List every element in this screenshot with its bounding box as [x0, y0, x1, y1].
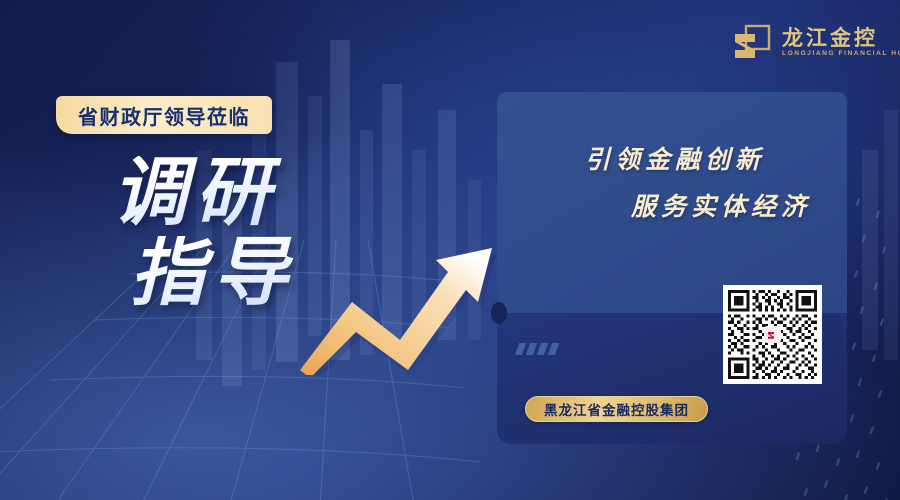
slogan-panel: 引领金融创新 服务实体经济 黑龙江省金融控股集团 — [497, 92, 847, 444]
slogan-line-2: 服务实体经济 — [523, 189, 821, 228]
longjiang-financial-holding-mark-icon — [733, 24, 771, 62]
slash-mark — [537, 343, 548, 355]
growth-arrow-icon — [296, 190, 496, 375]
slash-mark — [548, 343, 559, 355]
slash-mark — [515, 343, 526, 355]
organization-name: 黑龙江省金融控股集团 — [544, 399, 689, 419]
slogan-block: 引领金融创新 服务实体经济 — [497, 142, 847, 228]
slogan-panel-top: 引领金融创新 服务实体经济 — [497, 92, 847, 313]
visit-badge: 省财政厅领导莅临 — [56, 96, 272, 134]
logo-english-name: LONGJIANG FINANCIAL HOLDING — [782, 51, 900, 58]
poster-canvas: 龙江金控 LONGJIANG FINANCIAL HOLDING 省财政厅领导莅… — [0, 0, 900, 500]
logo-chinese-name: 龙江金控 — [782, 28, 900, 49]
brand-logo: 龙江金控 LONGJIANG FINANCIAL HOLDING — [733, 24, 900, 62]
panel-notch-decoration — [491, 302, 507, 324]
organization-pill: 黑龙江省金融控股集团 — [525, 396, 708, 422]
slash-decoration — [517, 343, 557, 355]
slash-mark — [526, 343, 537, 355]
qr-center-logo-icon — [764, 326, 781, 343]
slogan-panel-bottom: 黑龙江省金融控股集团 — [497, 313, 847, 444]
slogan-line-1: 引领金融创新 — [523, 142, 821, 181]
qr-code[interactable] — [723, 285, 822, 384]
visit-badge-label: 省财政厅领导莅临 — [78, 101, 250, 130]
